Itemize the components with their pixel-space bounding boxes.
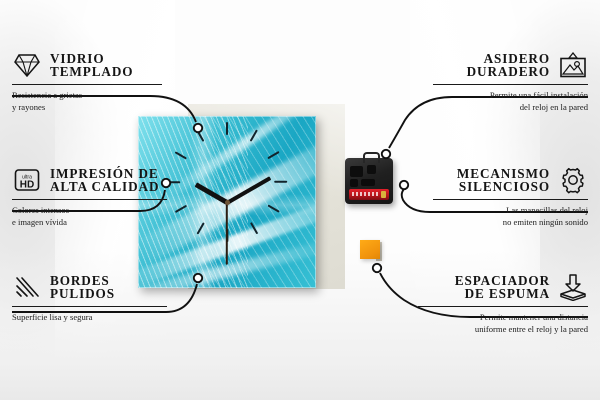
connector-dot-mecanismo: [400, 181, 408, 189]
feature-title-line1: VIDRIO: [50, 52, 133, 65]
polished-edges-icon: [12, 272, 42, 302]
feature-divider: [12, 306, 167, 307]
feature-title-line2: TEMPLADO: [50, 65, 133, 78]
feature-description: Las manecillas del reloj no emiten ningú…: [433, 204, 588, 229]
feature-title-line1: ESPACIADOR: [455, 274, 550, 287]
connector-dot-vidrio: [194, 124, 202, 132]
ultra-hd-icon: ultra HD: [12, 165, 42, 195]
feature-mecanismo-silencioso: MECANISMO SILENCIOSO Las manecillas del …: [433, 165, 588, 229]
feature-title-line1: ASIDERO: [467, 52, 550, 65]
svg-text:HD: HD: [20, 180, 34, 191]
feature-description: Superficie lisa y segura: [12, 311, 167, 323]
feature-title-line1: IMPRESIÓN DE: [50, 167, 159, 180]
connector-dot-asidero: [382, 150, 390, 158]
feature-titles: ASIDERO DURADERO: [467, 52, 550, 79]
feature-title-line2: DE ESPUMA: [455, 287, 550, 300]
feature-title-line1: MECANISMO: [457, 167, 550, 180]
feature-bordes-pulidos: BORDES PULIDOS Superficie lisa y segura: [12, 272, 167, 323]
feature-divider: [433, 84, 588, 85]
feature-titles: VIDRIO TEMPLADO: [50, 52, 133, 79]
connector-dot-bordes: [194, 274, 202, 282]
feature-asidero-duradero: ASIDERO DURADERO Permite una fácil insta…: [433, 50, 588, 114]
feature-header: BORDES PULIDOS: [12, 272, 167, 302]
feature-title-line2: PULIDOS: [50, 287, 115, 300]
feature-title-line2: SILENCIOSO: [457, 180, 550, 193]
feature-vidrio-templado: VIDRIO TEMPLADO Resistencia a grietas y …: [12, 50, 162, 114]
feature-title-line2: DURADERO: [467, 65, 550, 78]
feature-header: ultra HD IMPRESIÓN DE ALTA CALIDAD: [12, 165, 167, 195]
feature-header: ASIDERO DURADERO: [433, 50, 588, 80]
feature-impresion-alta-calidad: ultra HD IMPRESIÓN DE ALTA CALIDAD Color…: [12, 165, 167, 229]
feature-titles: IMPRESIÓN DE ALTA CALIDAD: [50, 167, 159, 194]
feature-espaciador-de-espuma: ESPACIADOR DE ESPUMA Permite mantener un…: [418, 272, 588, 336]
feature-titles: BORDES PULIDOS: [50, 274, 115, 301]
feature-titles: ESPACIADOR DE ESPUMA: [455, 274, 550, 301]
feature-header: MECANISMO SILENCIOSO: [433, 165, 588, 195]
foam-spacer-arrow-icon: [558, 272, 588, 302]
feature-divider: [12, 84, 162, 85]
feature-title-line1: BORDES: [50, 274, 115, 287]
infographic-canvas: VIDRIO TEMPLADO Resistencia a grietas y …: [0, 0, 600, 400]
connector-dot-espaciador: [373, 264, 381, 272]
feature-description: Colores intensos e imagen vívida: [12, 204, 167, 229]
feature-description: Permite mantener una distancia uniforme …: [418, 311, 588, 336]
feature-description: Resistencia a grietas y rayones: [12, 89, 162, 114]
feature-header: VIDRIO TEMPLADO: [12, 50, 162, 80]
feature-title-line2: ALTA CALIDAD: [50, 180, 159, 193]
feature-titles: MECANISMO SILENCIOSO: [457, 167, 550, 194]
feature-divider: [12, 199, 167, 200]
feature-description: Permite una fácil instalación del reloj …: [433, 89, 588, 114]
picture-frame-hook-icon: [558, 50, 588, 80]
diamond-icon: [12, 50, 42, 80]
feature-header: ESPACIADOR DE ESPUMA: [418, 272, 588, 302]
gear-icon: [558, 165, 588, 195]
feature-divider: [433, 199, 588, 200]
feature-divider: [418, 306, 588, 307]
